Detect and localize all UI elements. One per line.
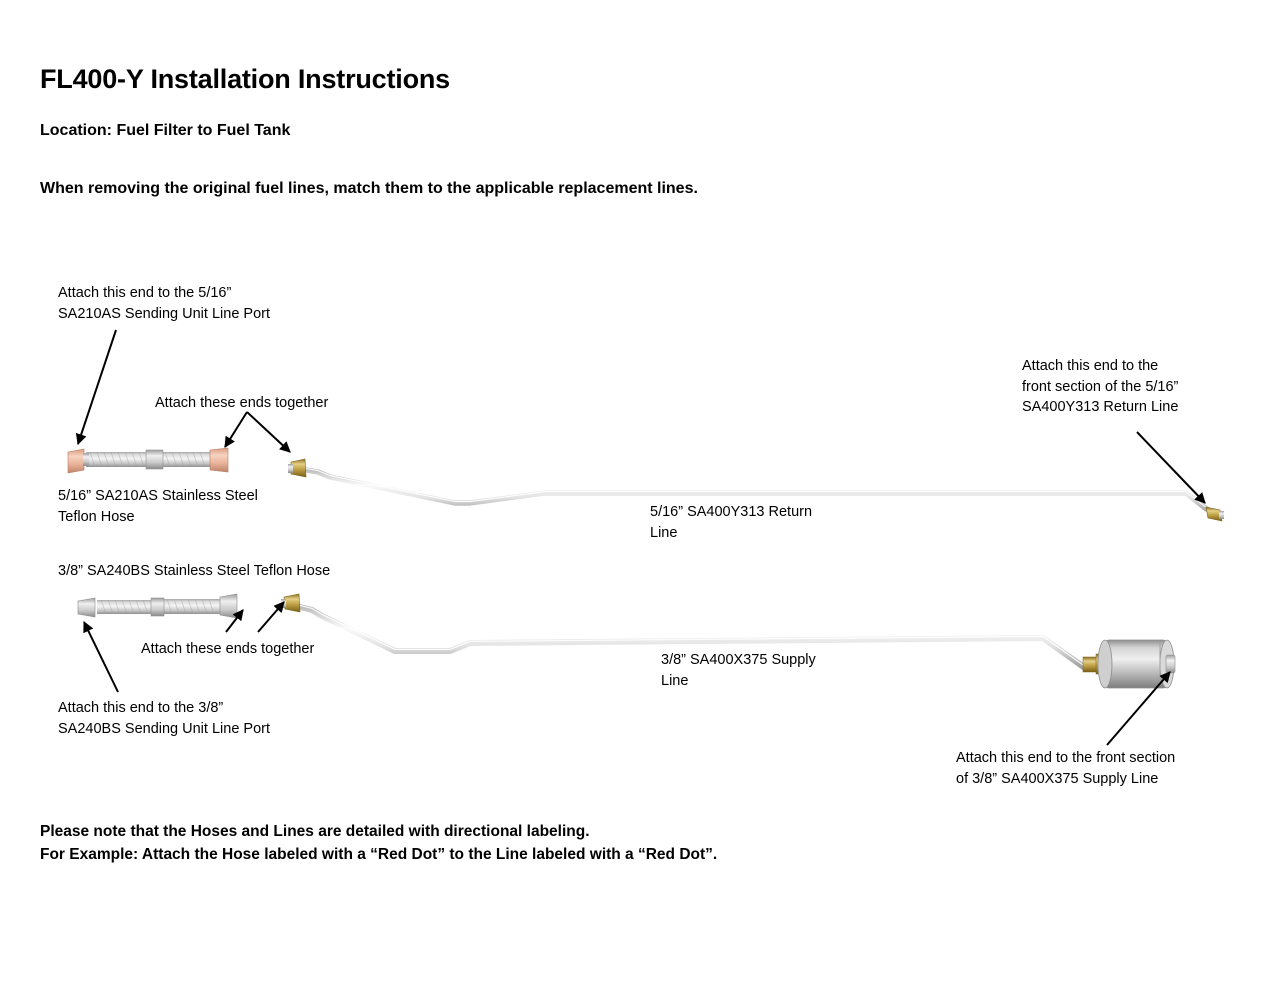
return-line-left-fitting bbox=[288, 459, 306, 477]
hose-sa210as bbox=[68, 448, 228, 473]
hose-sa210as-left-fitting bbox=[68, 449, 89, 473]
part-label-hose-sa210as: 5/16” SA210AS Stainless Steel Teflon Hos… bbox=[58, 486, 258, 527]
arrow-hose-b-end bbox=[84, 622, 118, 692]
return-line-right-fitting bbox=[1206, 507, 1224, 521]
annotation-supply-line-right: Attach this end to the front section of … bbox=[956, 748, 1175, 789]
annotation-ends-together-top: Attach these ends together bbox=[155, 393, 328, 414]
hose-sa240bs-left-fitting bbox=[78, 598, 95, 617]
annotation-hose-a-end: Attach this end to the 5/16” SA210AS Sen… bbox=[58, 283, 270, 324]
part-label-hose-sa240bs: 3/8” SA240BS Stainless Steel Teflon Hose bbox=[58, 561, 330, 582]
arrow-hose-a-end bbox=[78, 330, 116, 444]
annotation-ends-together-bottom: Attach these ends together bbox=[141, 639, 314, 660]
arrow-ends-bottom-right bbox=[258, 602, 284, 632]
hose-sa240bs bbox=[78, 594, 237, 618]
annotation-return-line-right: Attach this end to the front section of … bbox=[1022, 356, 1178, 418]
part-label-supply-line: 3/8” SA400X375 Supply Line bbox=[661, 650, 816, 691]
arrow-ends-top-left bbox=[225, 412, 247, 447]
footer-note: Please note that the Hoses and Lines are… bbox=[40, 820, 717, 866]
footer-note-line-1: Please note that the Hoses and Lines are… bbox=[40, 820, 717, 843]
arrow-ends-top-right bbox=[247, 412, 290, 452]
footer-note-line-2: For Example: Attach the Hose labeled wit… bbox=[40, 843, 717, 866]
annotation-hose-b-end: Attach this end to the 3/8” SA240BS Send… bbox=[58, 698, 270, 739]
part-label-return-line: 5/16” SA400Y313 Return Line bbox=[650, 502, 812, 543]
document-page: FL400-Y Installation Instructions Locati… bbox=[0, 0, 1280, 989]
hose-sa240bs-right-fitting bbox=[220, 594, 237, 618]
hose-sa210as-right-fitting bbox=[210, 448, 228, 472]
